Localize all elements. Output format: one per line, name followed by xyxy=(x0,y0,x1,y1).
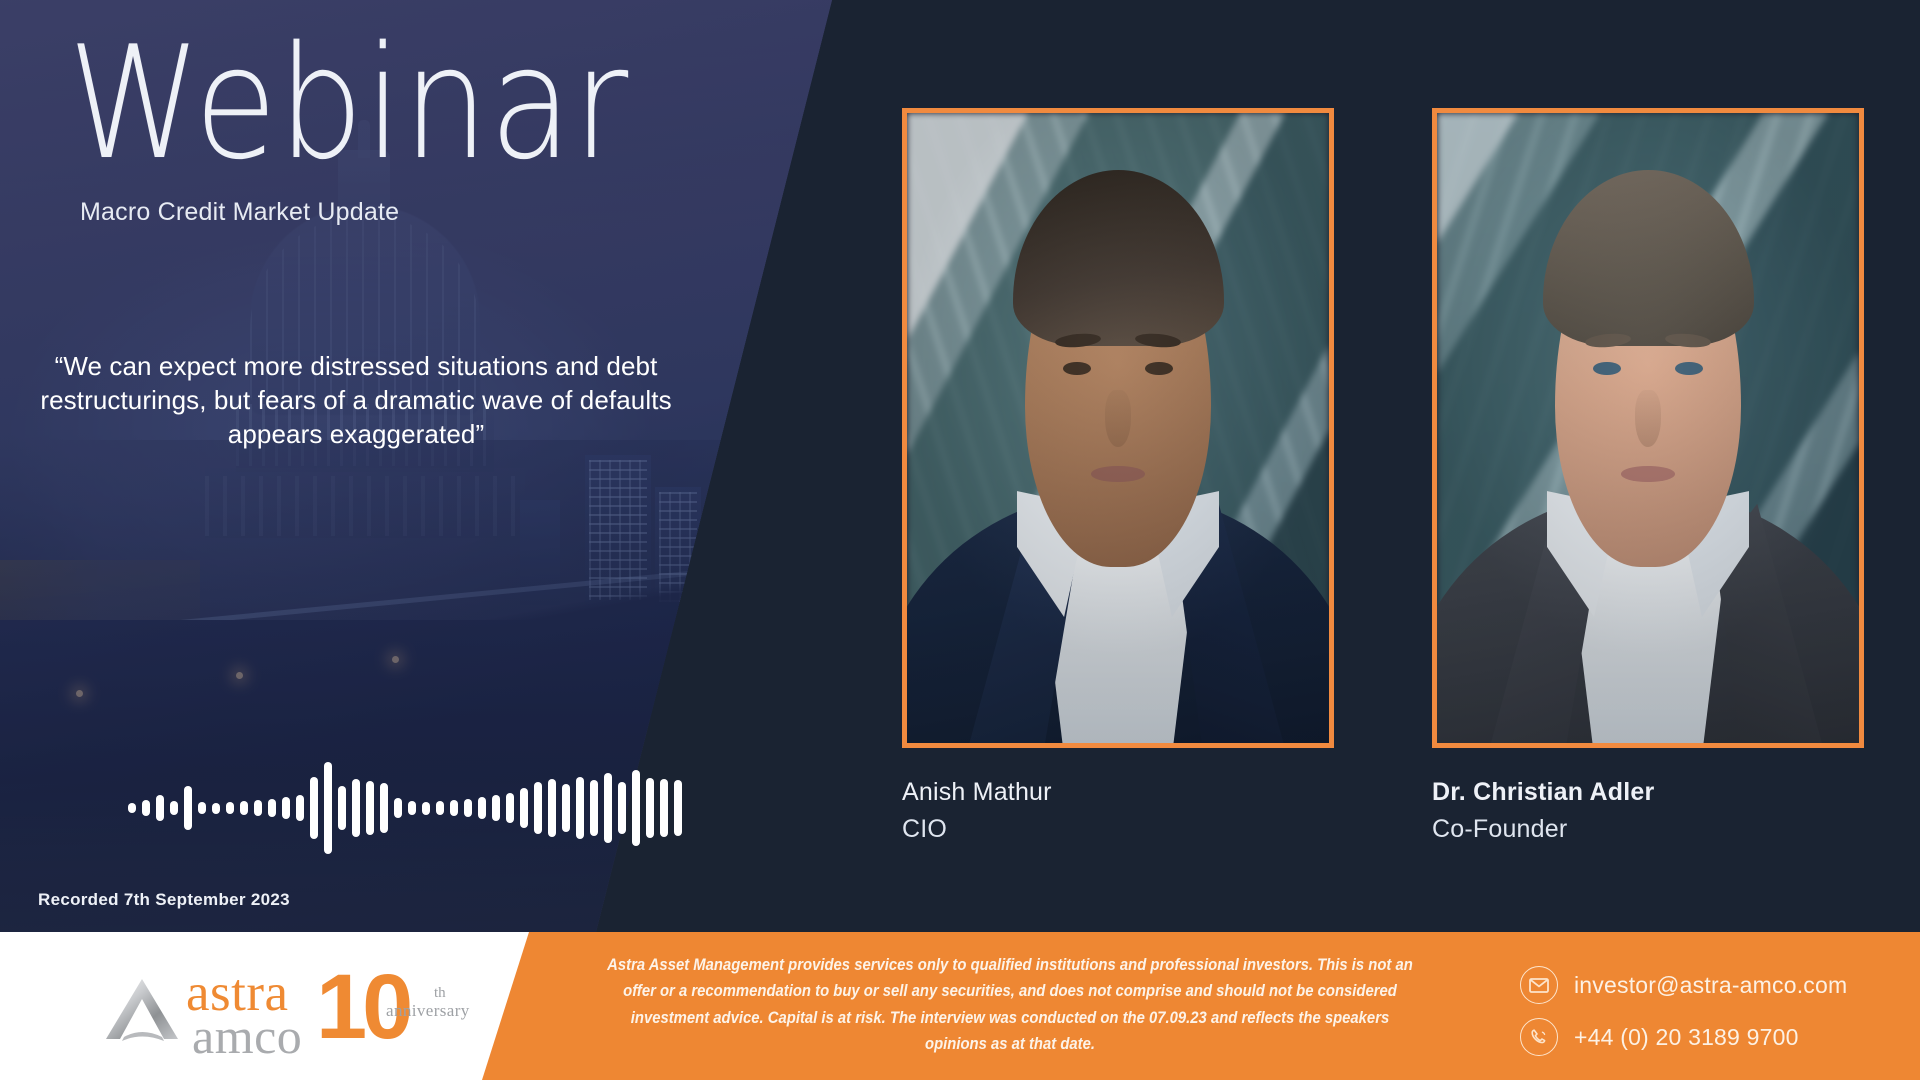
waveform-bar xyxy=(282,797,290,819)
waveform-bar xyxy=(310,777,318,839)
phone-icon xyxy=(1520,1018,1558,1056)
waveform-bar xyxy=(408,801,416,815)
waveform-bar xyxy=(562,784,570,832)
portrait-anish-mathur xyxy=(907,113,1329,743)
page-subtitle: Macro Credit Market Update xyxy=(80,198,399,227)
contact-email[interactable]: investor@astra-amco.com xyxy=(1520,966,1847,1004)
speaker-card-2: Dr. Christian Adler Co-Founder xyxy=(1432,108,1864,844)
page-title: Webinar xyxy=(68,26,629,182)
speaker-role-2: Co-Founder xyxy=(1432,815,1864,844)
contact-phone-value: +44 (0) 20 3189 9700 xyxy=(1574,1024,1799,1051)
waveform-bar xyxy=(506,793,514,823)
waveform-bar xyxy=(492,795,500,821)
envelope-icon xyxy=(1520,966,1558,1004)
astra-triangle-mark xyxy=(104,977,180,1043)
waveform-bar xyxy=(436,801,444,815)
logo-anniversary-word: anniversary xyxy=(386,1001,470,1021)
waveform-bar xyxy=(184,786,192,830)
waveform-bar xyxy=(338,786,346,830)
slide-canvas: Webinar Macro Credit Market Update “We c… xyxy=(0,0,1920,1080)
waveform-bar xyxy=(170,801,178,815)
footer-disclaimer: Astra Asset Management provides services… xyxy=(605,952,1415,1058)
waveform-bar xyxy=(632,770,640,846)
speaker-card-1: Anish Mathur CIO xyxy=(902,108,1334,844)
waveform-bar xyxy=(156,795,164,821)
waveform-bar xyxy=(604,773,612,843)
waveform-bar xyxy=(128,803,136,813)
waveform-bar xyxy=(366,781,374,835)
speaker-name-2: Dr. Christian Adler xyxy=(1432,778,1864,807)
waveform-bar xyxy=(226,802,234,814)
contact-email-value: investor@astra-amco.com xyxy=(1574,972,1847,999)
waveform-bar xyxy=(394,798,402,818)
waveform-bar xyxy=(618,782,626,834)
waveform-bar xyxy=(352,779,360,837)
portrait-christian-adler xyxy=(1437,113,1859,743)
contact-phone[interactable]: +44 (0) 20 3189 9700 xyxy=(1520,1018,1847,1056)
photo-vignette xyxy=(1437,113,1859,743)
waveform-bar xyxy=(380,783,388,833)
recorded-date: Recorded 7th September 2023 xyxy=(38,890,290,910)
waveform-bar xyxy=(212,803,220,814)
waveform-bar xyxy=(142,800,150,816)
waveform-bar xyxy=(548,779,556,837)
audio-waveform-icon xyxy=(128,762,498,854)
waveform-bar xyxy=(534,782,542,834)
waveform-bar xyxy=(324,762,332,854)
waveform-bar xyxy=(240,801,248,815)
waveform-bar xyxy=(520,788,528,828)
logo-anniversary-ordinal: th xyxy=(434,985,446,1002)
waveform-bar xyxy=(464,799,472,817)
speaker-role-1: CIO xyxy=(902,815,1334,844)
waveform-bar xyxy=(478,797,486,819)
waveform-bar xyxy=(646,778,654,838)
waveform-bar xyxy=(590,780,598,836)
footer-contacts: investor@astra-amco.com +44 (0) 20 3189 … xyxy=(1520,966,1847,1070)
waveform-bar xyxy=(450,800,458,816)
astra-amco-logo[interactable]: astra amco 10 th anniversary xyxy=(104,963,404,1053)
waveform-bar xyxy=(674,780,682,836)
speaker-name-1: Anish Mathur xyxy=(902,778,1334,807)
speaker-photo-2 xyxy=(1432,108,1864,748)
waveform-bar xyxy=(268,799,276,817)
waveform-bar xyxy=(254,800,262,816)
waveform-bar xyxy=(422,802,430,815)
waveform-bar xyxy=(660,779,668,837)
photo-vignette xyxy=(907,113,1329,743)
waveform-bar xyxy=(198,802,206,814)
logo-word-amco: amco xyxy=(192,1007,302,1065)
speaker-photo-1 xyxy=(902,108,1334,748)
pull-quote: “We can expect more distressed situation… xyxy=(38,350,674,451)
waveform-bar xyxy=(576,777,584,839)
waveform-bar xyxy=(296,795,304,821)
